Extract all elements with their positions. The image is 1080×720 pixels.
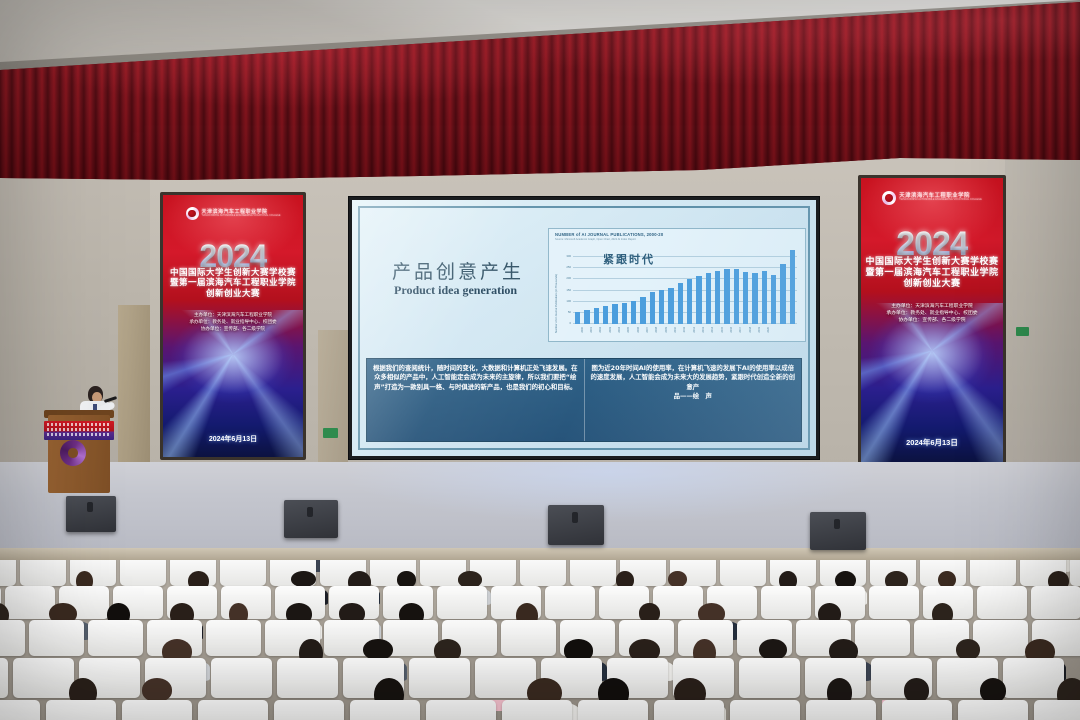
chart-x-tick: 2007 [646, 327, 649, 333]
slide-text-right: 图为近20年时间AI的使用率，在计算机飞速的发展下AI的使用率以成倍的速度发展，… [585, 359, 802, 441]
audience-member-head [142, 678, 172, 702]
chart-bar [678, 283, 683, 324]
chart-bar [743, 272, 748, 324]
ai-publications-chart: NUMBER of AI JOURNAL PUBLICATIONS, 2000-… [548, 228, 806, 342]
chart-y-tick: 0 [569, 321, 571, 325]
college-name-en-left: TIANJIN BINHAI AUTOMOBILE ENGINEERING VO… [202, 215, 281, 217]
slide-title-cn: 产品创意产生 [392, 257, 524, 284]
audience-seat[interactable] [1003, 658, 1064, 698]
chart-bar [594, 308, 599, 324]
audience-seat[interactable] [654, 700, 724, 720]
banner-date-right: 2024年6月13日 [861, 437, 1003, 448]
audience-member-head [759, 639, 787, 660]
floor-monitor-2 [284, 500, 338, 538]
chart-bar [631, 301, 636, 324]
audience-seat[interactable] [5, 586, 55, 619]
audience-seat[interactable] [0, 658, 8, 698]
audience-seat[interactable] [20, 560, 66, 586]
chart-overlay-label: 紧跟时代 [603, 251, 655, 267]
audience-seat[interactable] [739, 658, 800, 698]
college-name-left: 天津滨海汽车工程职业学院 TIANJIN BINHAI AUTOMOBILE E… [202, 210, 281, 217]
banner-date-left: 2024年6月13日 [163, 434, 303, 444]
chart-y-tick: 300 [566, 254, 571, 258]
audience-member-head [291, 571, 316, 587]
audience-seat[interactable] [570, 560, 616, 586]
audience-seat[interactable] [882, 700, 952, 720]
chart-x-tick: 2018 [749, 327, 752, 333]
slide-text-panel: 根据我们的查阅统计，随时间的变化，大数据和计算机正处飞速发展。在众多相似的产品中… [366, 358, 802, 442]
audience-seat[interactable] [520, 560, 566, 586]
chart-x-tick: 2004 [618, 327, 621, 333]
auditorium-scene: 天津滨海汽车工程职业学院 TIANJIN BINHAI AUTOMOBILE E… [0, 0, 1080, 720]
banner-org3-left: 协办单位：宣传部、各二级学院 [189, 326, 276, 333]
chart-bar [659, 290, 664, 324]
audience-seat[interactable] [437, 586, 487, 619]
chart-x-tick: 2002 [599, 327, 602, 333]
chart-bar [575, 312, 580, 324]
podium-banner [44, 421, 114, 440]
audience-seat[interactable] [206, 620, 261, 656]
slide-text-left: 根据我们的查阅统计，随时间的变化，大数据和计算机正处飞速发展。在众多相似的产品中… [367, 359, 584, 441]
floor-monitor-3 [548, 505, 604, 545]
audience-seat[interactable] [1031, 586, 1080, 619]
audience-seat[interactable] [29, 620, 84, 656]
spiral-logo-icon [186, 207, 199, 220]
chart-bar [640, 297, 645, 324]
audience-seat[interactable] [350, 700, 420, 720]
audience-seat[interactable] [653, 586, 703, 619]
chart-x-tick: 2019 [758, 327, 761, 333]
audience-seat[interactable] [0, 560, 16, 586]
audience-seat[interactable] [806, 700, 876, 720]
chart-x-tick: 2003 [609, 327, 612, 333]
college-name-right: 天津滨海汽车工程职业学院 TIANJIN BINHAI AUTOMOBILE E… [899, 194, 982, 202]
chart-bar [584, 310, 589, 324]
led-screen-left: 天津滨海汽车工程职业学院 TIANJIN BINHAI AUTOMOBILE E… [163, 195, 303, 457]
chart-x-tick: 2015 [721, 327, 724, 333]
chart-bar [622, 303, 627, 324]
presentation-slide: 产品创意产生 Product idea generation NUMBER of… [352, 200, 816, 456]
audience-seat[interactable] [970, 560, 1016, 586]
chart-x-tick: 2017 [739, 327, 742, 333]
audience-seat[interactable] [0, 620, 25, 656]
banner-line1-left: 中国国际大学生创新大赛学校赛 [170, 268, 296, 278]
audience-seat[interactable] [761, 586, 811, 619]
chart-bar [612, 304, 617, 324]
chart-x-tick: 2014 [711, 327, 714, 333]
chart-bar [734, 269, 739, 324]
chart-x-tick: 2016 [730, 327, 733, 333]
banner-org1-right: 主办单位：天津滨海汽车工程职业学院 [886, 303, 977, 310]
audience-seat[interactable] [1070, 560, 1080, 586]
stage-door-mid [318, 330, 348, 475]
banner-line3-right: 创新创业大赛 [903, 278, 960, 288]
audience-seat[interactable] [88, 620, 143, 656]
exit-sign [323, 428, 338, 438]
audience-seat[interactable] [46, 700, 116, 720]
wall-panel-right [1005, 150, 1080, 490]
audience-seat[interactable] [13, 658, 74, 698]
projection-screen-frame: 产品创意产生 Product idea generation NUMBER of… [348, 196, 820, 460]
slide-title-en: Product idea generation [394, 283, 517, 298]
podium-spiral-logo-icon [60, 440, 86, 466]
audience-seat[interactable] [545, 586, 595, 619]
chart-bar [724, 269, 729, 324]
chart-x-tick: 2005 [627, 327, 630, 333]
slide-text-right-product: 品——绘 声 [591, 392, 796, 401]
exit-sign-right [1016, 327, 1029, 336]
chart-x-tick: 2011 [683, 327, 686, 333]
college-logo-left: 天津滨海汽车工程职业学院 TIANJIN BINHAI AUTOMOBILE E… [186, 207, 281, 220]
chart-gridline: 250 [573, 267, 797, 268]
floor-monitor-4 [810, 512, 866, 550]
chart-bar [790, 250, 795, 324]
audience-seat[interactable] [198, 700, 268, 720]
chart-y-tick: 100 [566, 299, 571, 303]
banner-line2-left: 暨第一届滨海汽车工程职业学院 [170, 278, 296, 288]
chart-x-tick: 2010 [674, 327, 677, 333]
slide-text-right-body: 图为近20年时间AI的使用率，在计算机飞速的发展下AI的使用率以成倍的速度发展，… [591, 364, 796, 392]
audience-member-head [668, 571, 686, 587]
audience-seat[interactable] [977, 586, 1027, 619]
audience-seat[interactable] [855, 620, 910, 656]
chart-y-axis-title: Number of AI Journal Publications (in Th… [555, 274, 558, 333]
chart-y-tick: 50 [568, 310, 571, 314]
chart-bar [687, 279, 692, 324]
audience-seat[interactable] [869, 586, 919, 619]
chart-title: NUMBER of AI JOURNAL PUBLICATIONS, 2000-… [555, 232, 663, 237]
audience-seat[interactable] [958, 700, 1028, 720]
audience-seat[interactable] [720, 560, 766, 586]
stage-door-left [118, 305, 150, 475]
audience-member-head [363, 639, 393, 660]
chart-bar [668, 288, 673, 324]
chart-y-tick: 250 [566, 265, 571, 269]
audience-member-head [904, 678, 930, 703]
audience-seat[interactable] [501, 620, 556, 656]
banner-line1-right: 中国国际大学生创新大赛学校赛 [865, 256, 998, 266]
audience-seat[interactable] [578, 700, 648, 720]
chart-bar [650, 292, 655, 324]
audience-seat[interactable] [211, 658, 272, 698]
audience-seat[interactable] [277, 658, 338, 698]
audience-seat[interactable] [426, 700, 496, 720]
audience-seat[interactable] [973, 620, 1028, 656]
chart-bar [780, 264, 785, 324]
audience-area [0, 560, 1080, 720]
chart-x-tick: 2001 [590, 327, 593, 333]
college-name-en-right: TIANJIN BINHAI AUTOMOBILE ENGINEERING VO… [899, 199, 982, 202]
spiral-logo-icon-right [882, 191, 896, 205]
chart-bar [696, 276, 701, 324]
audience-seat[interactable] [502, 700, 572, 720]
banner-org3-right: 协办单位：宣传部、各二级学院 [886, 317, 977, 324]
banner-org2-right: 承办单位：教务处、就业指导中心、校团委 [886, 310, 977, 317]
chart-bar [771, 275, 776, 324]
chart-bar [706, 273, 711, 324]
chart-x-tick: 2012 [693, 327, 696, 333]
chart-bar [752, 273, 757, 324]
chart-y-tick: 200 [566, 276, 571, 280]
chart-x-tick: 2008 [655, 327, 658, 333]
led-screen-right: 天津滨海汽车工程职业学院 TIANJIN BINHAI AUTOMOBILE E… [861, 178, 1003, 462]
chart-x-tick: 2013 [702, 327, 705, 333]
audience-seat[interactable] [122, 700, 192, 720]
chart-subtitle: Source: Microsoft Academic Graph, Open C… [555, 238, 636, 241]
banner-line2-right: 暨第一届滨海汽车工程职业学院 [865, 267, 998, 277]
chart-bar [603, 306, 608, 324]
banner-org-right: 主办单位：天津滨海汽车工程职业学院 承办单位：教务处、就业指导中心、校团委 协办… [886, 303, 977, 325]
audience-seat[interactable] [220, 560, 266, 586]
college-logo-right: 天津滨海汽车工程职业学院 TIANJIN BINHAI AUTOMOBILE E… [882, 191, 982, 205]
chart-y-tick: 150 [566, 288, 571, 292]
audience-seat[interactable] [120, 560, 166, 586]
chart-bar [715, 271, 720, 324]
chart-x-tick: 2006 [637, 327, 640, 333]
chart-bar [762, 271, 767, 324]
led-banner-right: 天津滨海汽车工程职业学院 TIANJIN BINHAI AUTOMOBILE E… [858, 175, 1006, 465]
chart-x-tick: 2020 [767, 327, 770, 333]
audience-seat[interactable] [730, 700, 800, 720]
banner-org-left: 主办单位：天津滨海汽车工程职业学院 承办单位：教务处、就业指导中心、校团委 协办… [189, 312, 276, 333]
audience-seat[interactable] [274, 700, 344, 720]
banner-line3-left: 创新创业大赛 [206, 289, 260, 299]
floor-monitor-1 [66, 496, 116, 532]
chart-x-tick: 2009 [665, 327, 668, 333]
audience-seat[interactable] [1034, 700, 1080, 720]
led-banner-left: 天津滨海汽车工程职业学院 TIANJIN BINHAI AUTOMOBILE E… [160, 192, 306, 460]
audience-seat[interactable] [0, 700, 40, 720]
chart-x-tick: 2000 [581, 327, 584, 333]
audience-member-head [956, 639, 980, 660]
audience-seat[interactable] [409, 658, 470, 698]
